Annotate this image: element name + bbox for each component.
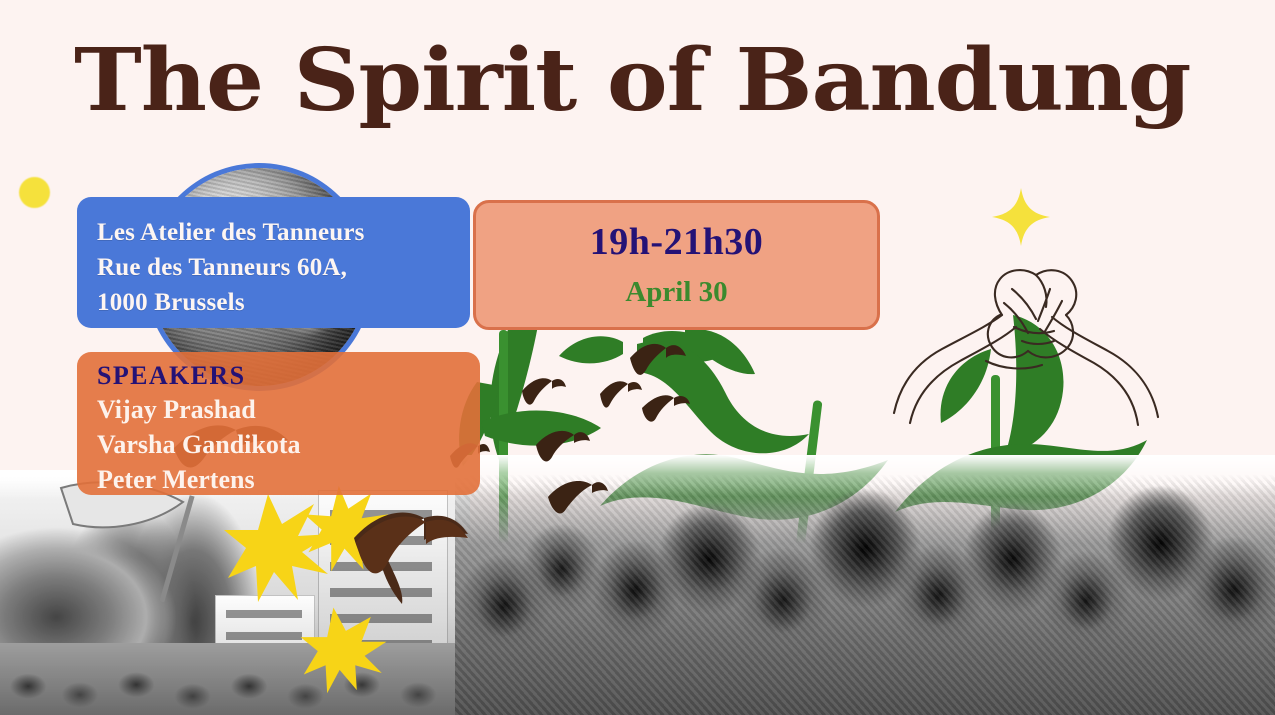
event-time: 19h-21h30 <box>590 223 763 263</box>
venue-line-1: Les Atelier des Tanneurs <box>97 215 450 250</box>
venue-line-2: Rue des Tanneurs 60A, <box>97 250 450 285</box>
bird-icon <box>348 502 472 602</box>
speakers-box: SPEAKERS Vijay Prashad Varsha Gandikota … <box>77 352 480 495</box>
bird-icon <box>598 378 644 414</box>
bird-icon <box>520 373 568 411</box>
speaker-name: Varsha Gandikota <box>97 427 460 462</box>
handclasp-icon <box>890 245 1162 425</box>
speakers-heading: SPEAKERS <box>97 360 460 392</box>
venue-line-3: 1000 Brussels <box>97 285 450 320</box>
poster-canvas: The Spirit of Bandung Les Atelier des Ta… <box>0 0 1275 715</box>
sparkle-icon <box>992 188 1050 246</box>
bird-icon <box>640 390 692 430</box>
yellow-dot-icon <box>19 177 50 208</box>
bird-icon <box>546 475 610 521</box>
venue-info-box: Les Atelier des Tanneurs Rue des Tanneur… <box>77 197 470 328</box>
speaker-name: Peter Mertens <box>97 462 460 497</box>
bird-icon <box>534 425 592 469</box>
page-title: The Spirit of Bandung <box>74 38 1272 124</box>
event-date: April 30 <box>625 277 727 307</box>
schedule-box: 19h-21h30 April 30 <box>473 200 880 330</box>
speaker-name: Vijay Prashad <box>97 392 460 427</box>
